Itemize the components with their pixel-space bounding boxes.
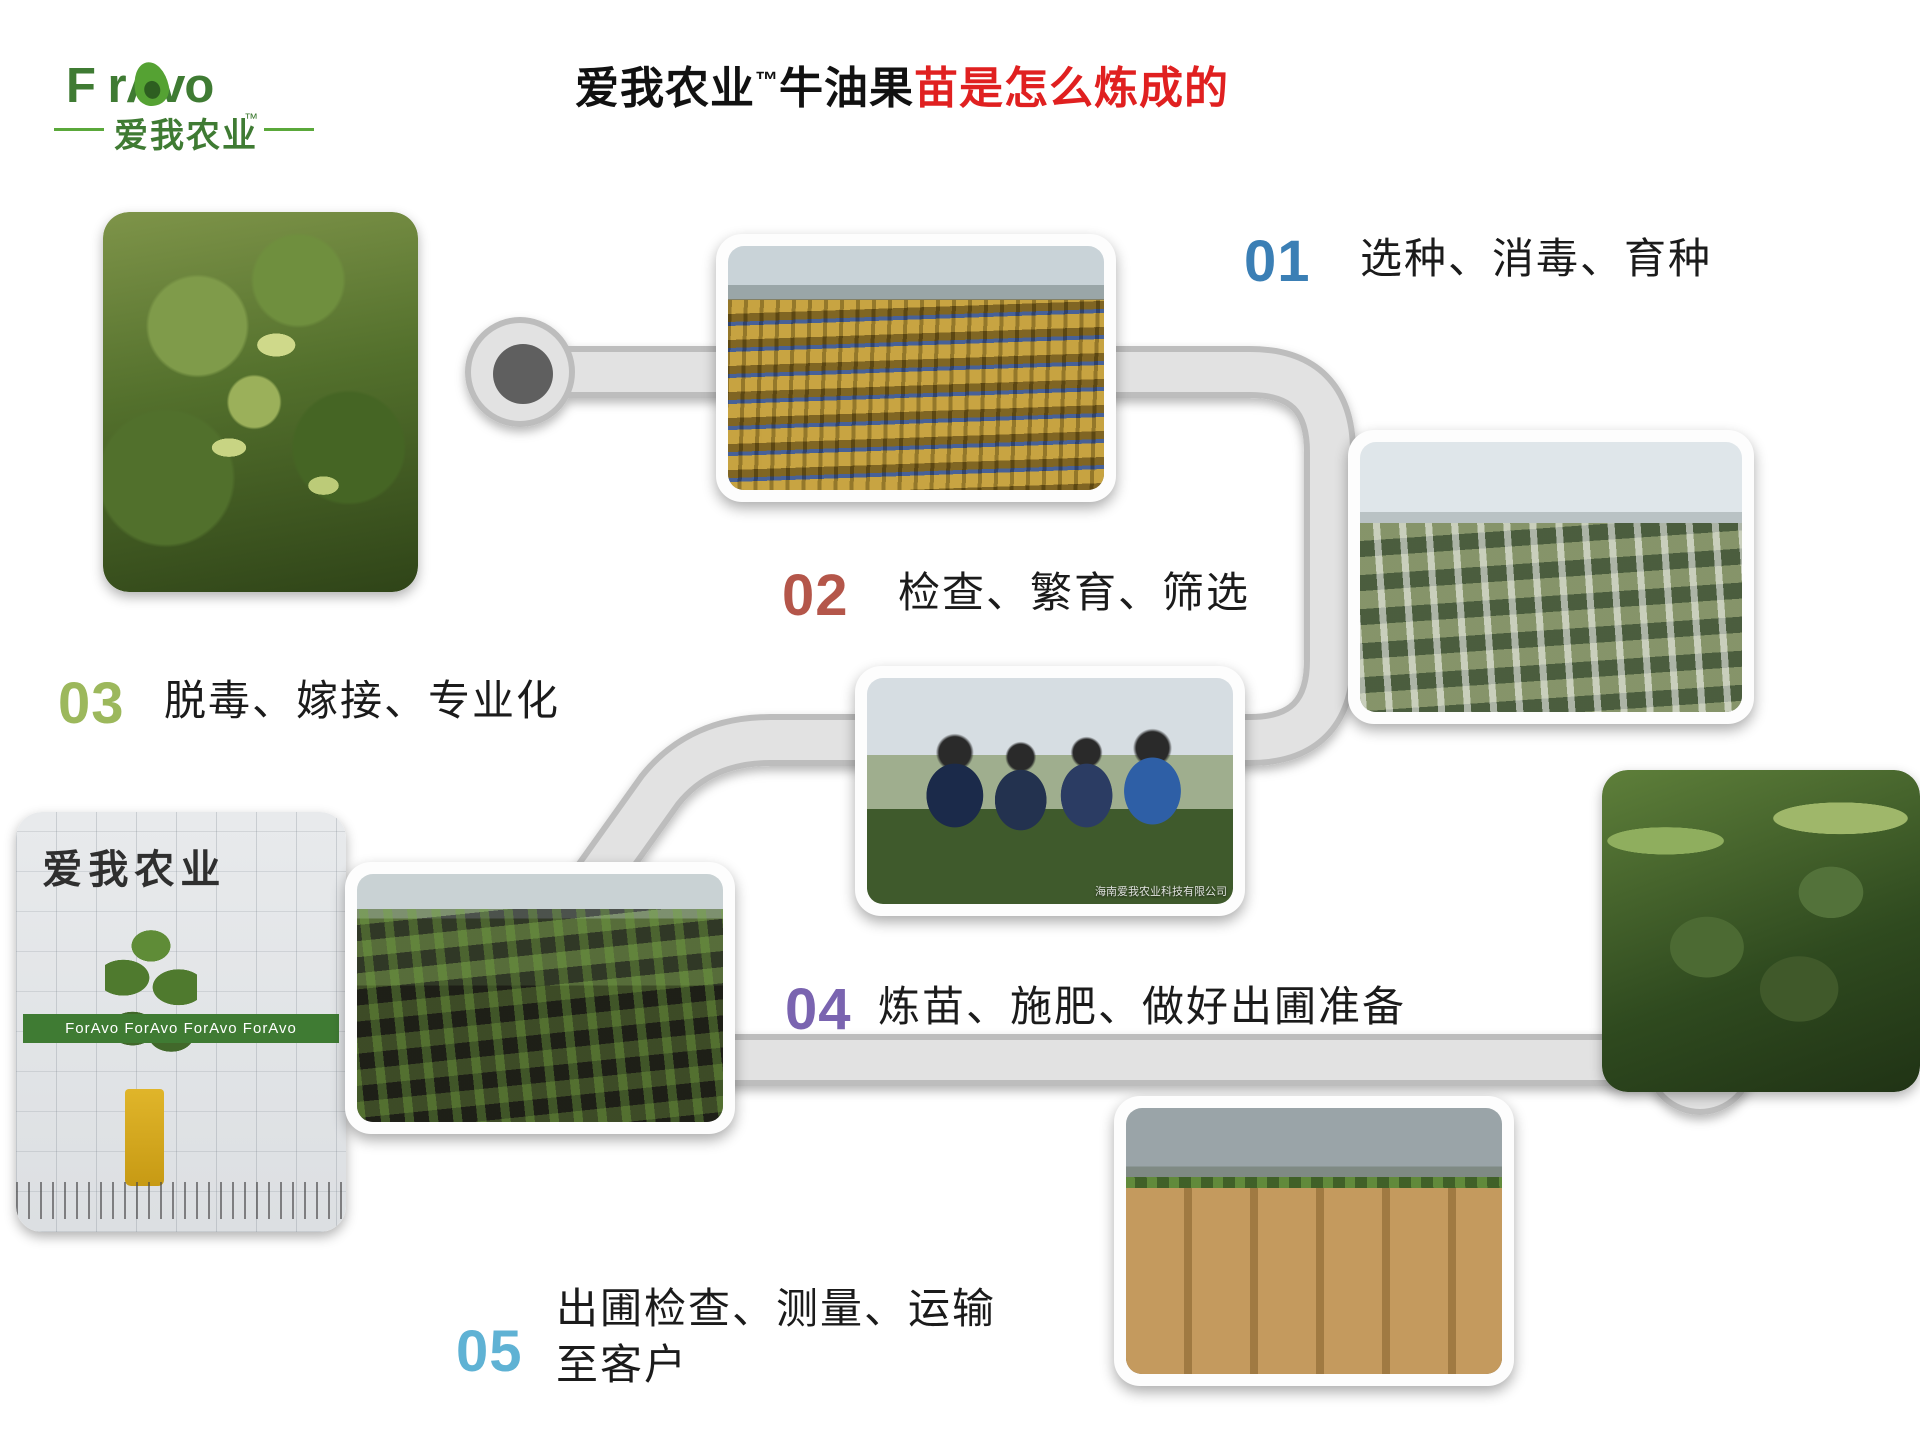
step-01-number: 01 <box>1244 228 1311 295</box>
step-05-label-line1: 出圃检查、测量、运输 <box>556 1282 996 1336</box>
step-05-label-line2: 至客户 <box>556 1338 688 1392</box>
seed-trays-photo <box>716 234 1116 502</box>
ruler-brand-chinese: 爱我农业 <box>42 837 226 895</box>
potted-seedlings-photo <box>345 862 735 1134</box>
step-01-label: 选种、消毒、育种 <box>1360 232 1712 286</box>
logo-trademark: ™ <box>244 110 258 126</box>
step-02-number: 02 <box>782 562 849 629</box>
step-03-label: 脱毒、嫁接、专业化 <box>164 674 560 728</box>
step-04-label: 炼苗、施肥、做好出圃准备 <box>878 980 1406 1034</box>
step-05-number: 05 <box>456 1318 523 1385</box>
title-trademark: ™ <box>755 66 779 92</box>
step-03-number: 03 <box>58 670 125 737</box>
people-inspect-photo: 海南爱我农业科技有限公司 <box>855 666 1245 916</box>
step-02-label: 检查、繁育、筛选 <box>898 566 1250 620</box>
ruler-seedling-photo: 爱我农业 ForAvo ForAvo ForAvo ForAvo <box>16 812 346 1232</box>
brand-logo: F rAvo 爱我农业 ™ <box>48 40 328 155</box>
title-part2: 牛油果 <box>779 64 914 113</box>
logo-chinese-name: 爱我农业 <box>114 108 258 157</box>
page-title: 爱我农业™牛油果苗是怎么炼成的 <box>575 52 1229 116</box>
people-photo-watermark: 海南爱我农业科技有限公司 <box>1095 883 1227 899</box>
title-highlight: 苗是怎么炼成的 <box>914 64 1229 113</box>
title-part1: 爱我农业 <box>575 64 755 113</box>
logo-rule-right <box>264 128 314 131</box>
greenhouse-rows-photo <box>1348 430 1754 724</box>
tree-fruit-photo <box>1602 770 1920 1092</box>
logo-rule-left <box>54 128 104 131</box>
packing-cartons-photo: 爱我农业 <box>1114 1096 1514 1386</box>
ruler-brand-band: ForAvo ForAvo ForAvo ForAvo <box>23 1014 340 1043</box>
carton-label-chinese: 爱我农业 <box>1209 1316 1273 1337</box>
step-04-number: 04 <box>785 976 852 1043</box>
flowering-branch-photo <box>103 212 418 592</box>
